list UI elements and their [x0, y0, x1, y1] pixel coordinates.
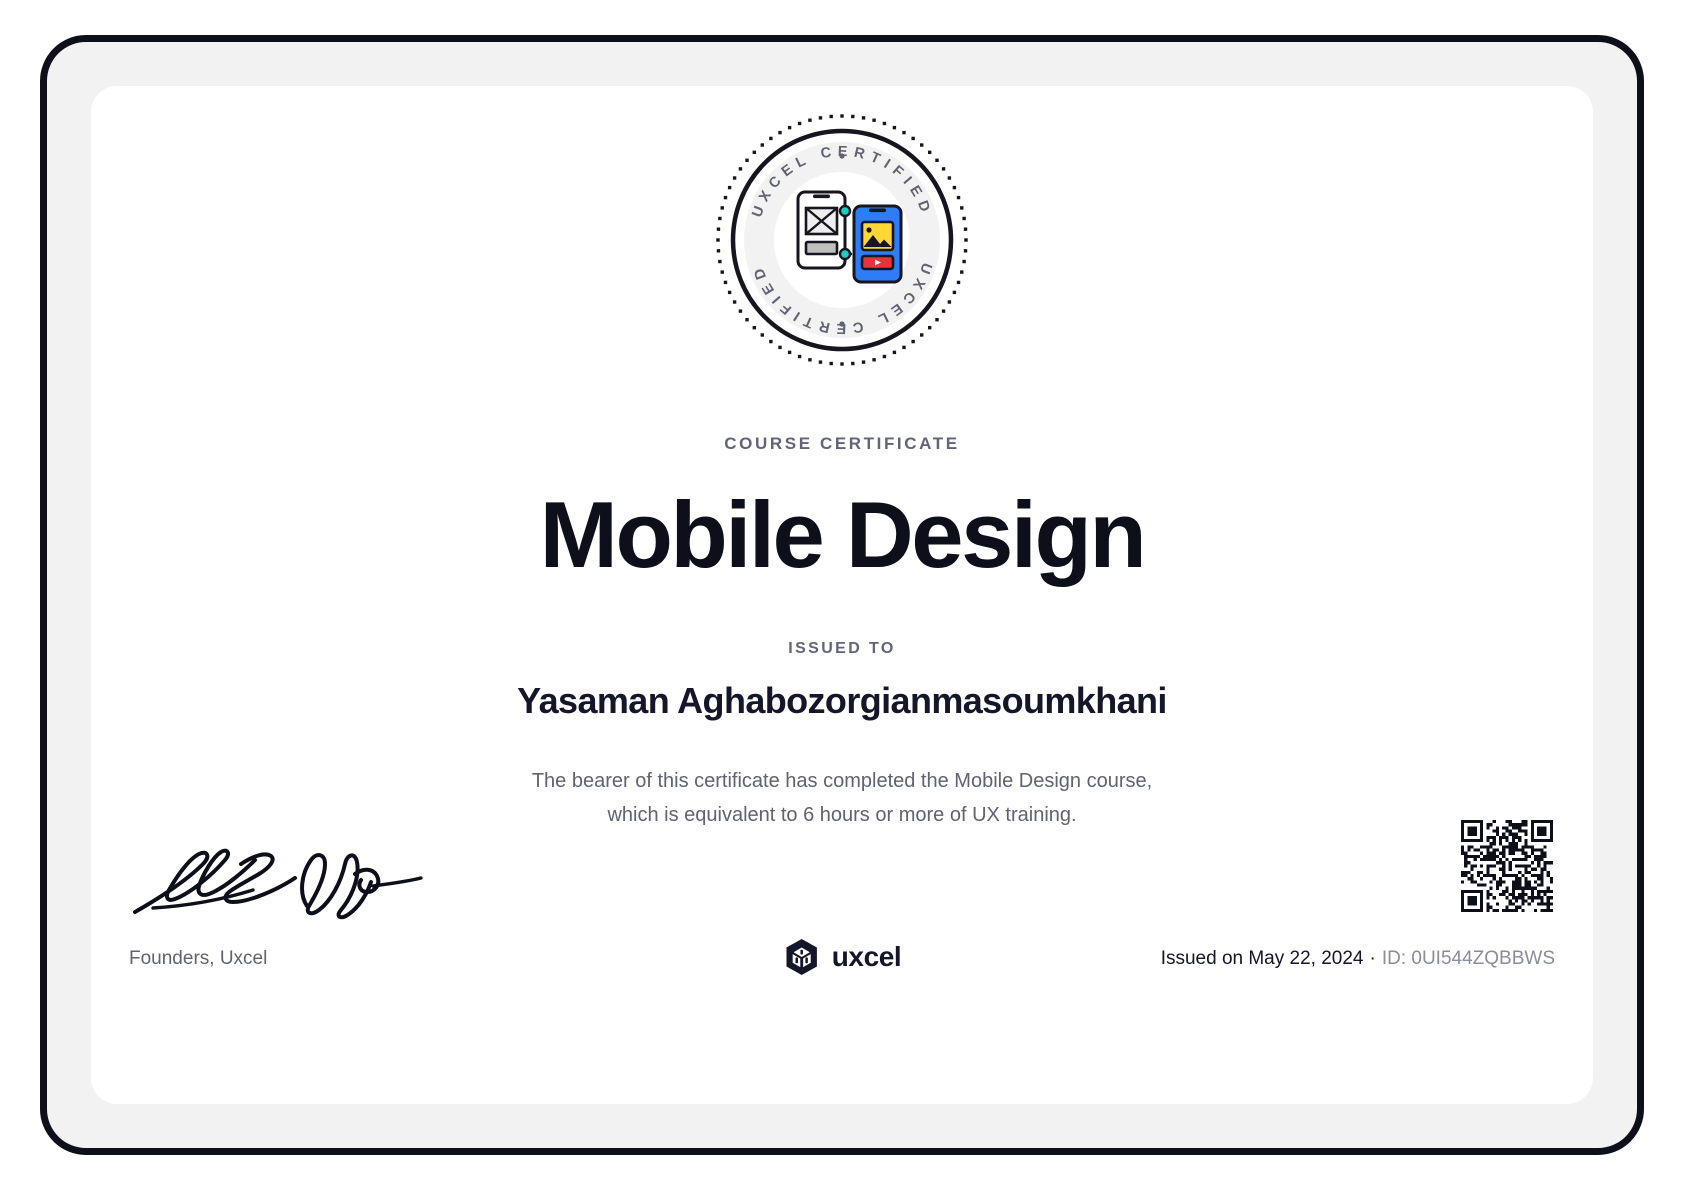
issue-date: Issued on May 22, 2024 — [1161, 948, 1364, 969]
certificate-frame: UXCEL CERTIFIED UXCEL CERTIFIED — [40, 35, 1644, 1155]
issue-metadata: Issued on May 22, 2024·ID: 0UI544ZQBBWS — [1161, 948, 1555, 970]
uxcel-certified-seal: UXCEL CERTIFIED UXCEL CERTIFIED — [706, 104, 978, 376]
verification-qr-code[interactable] — [1461, 820, 1553, 912]
founder-signatures — [129, 834, 449, 926]
recipient-name: Yasaman Aghabozorgianmasoumkhani — [91, 680, 1593, 722]
certificate-card: UXCEL CERTIFIED UXCEL CERTIFIED — [91, 86, 1593, 1104]
uxcel-wordmark: uxcel — [832, 941, 902, 973]
uxcel-hexagon-icon — [783, 938, 821, 976]
uxcel-brand-logo: uxcel — [783, 938, 902, 976]
description-line-2: which is equivalent to 6 hours or more o… — [607, 804, 1076, 826]
meta-separator: · — [1364, 948, 1382, 969]
certificate-id: ID: 0UI544ZQBBWS — [1382, 948, 1555, 969]
certificate-page: UXCEL CERTIFIED UXCEL CERTIFIED — [0, 0, 1684, 1190]
certificate-description: The bearer of this certificate has compl… — [392, 764, 1292, 832]
description-line-1: The bearer of this certificate has compl… — [532, 770, 1152, 792]
course-title: Mobile Design — [91, 486, 1593, 585]
course-certificate-kicker: COURSE CERTIFICATE — [91, 434, 1593, 454]
founders-label: Founders, Uxcel — [129, 948, 267, 970]
issued-to-label: ISSUED TO — [91, 640, 1593, 658]
